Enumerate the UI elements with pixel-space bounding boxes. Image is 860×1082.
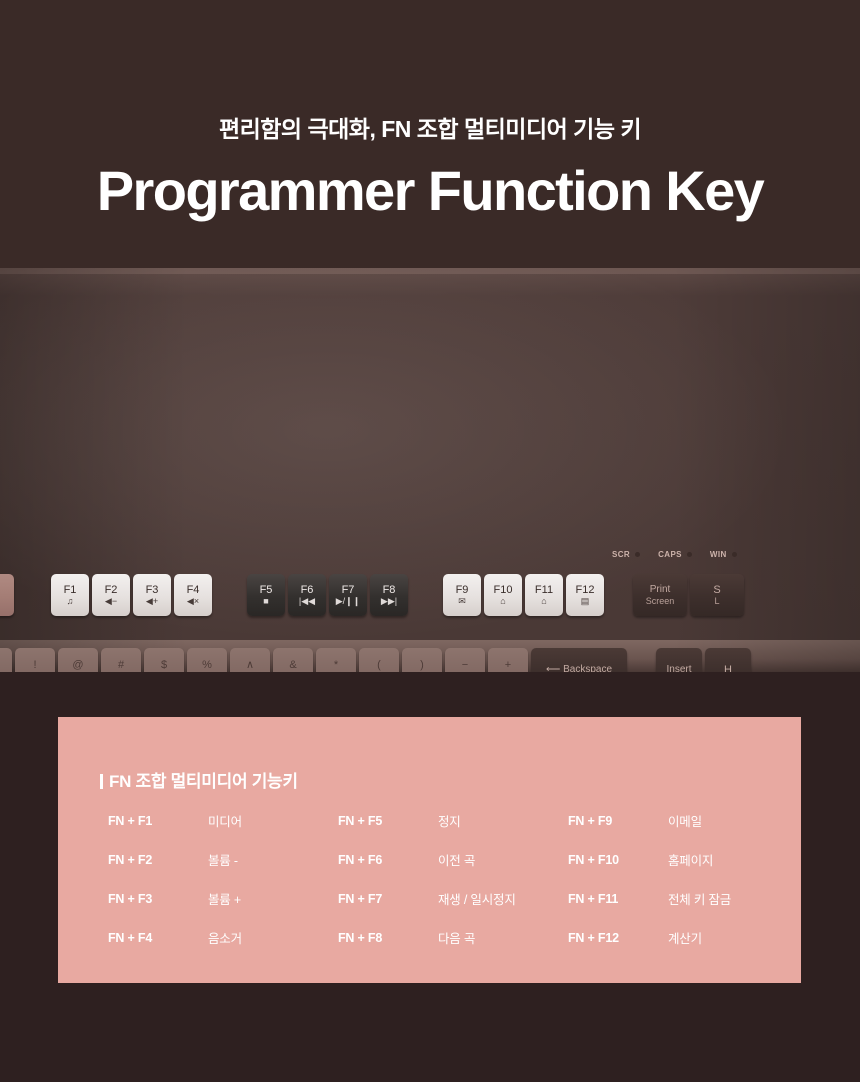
key-primary-legend: F9 (456, 585, 469, 597)
key-f1[interactable]: F1♫ (51, 574, 89, 616)
fn-key-description: 정지 (438, 811, 568, 830)
key-primary-legend: Print (650, 585, 671, 596)
fn-key-description: 이전 곡 (438, 850, 568, 869)
key-esc[interactable]: Esc (0, 574, 14, 616)
key-primary-legend: ( (377, 660, 381, 672)
key-primary-legend: F8 (383, 585, 396, 597)
fn-key-description: 볼륨 + (208, 889, 338, 908)
fn-key-combo: FN + F4 (108, 931, 208, 945)
indicator-label: WIN (710, 550, 727, 559)
fn-key-description: 다음 곡 (438, 928, 568, 947)
key-minus[interactable]: −- (445, 648, 485, 672)
fn-key-description: 이메일 (668, 811, 768, 830)
key-primary-legend: F10 (494, 585, 513, 597)
fn-key-description: 계산기 (668, 928, 768, 947)
header-subtitle: 편리함의 극대화, FN 조합 멀티미디어 기능 키 (0, 110, 860, 144)
fn-key-description: 볼륨 - (208, 850, 338, 869)
fn-key-combo: FN + F11 (568, 892, 668, 906)
indicator-label: CAPS (658, 550, 682, 559)
fn-key-description: 미디어 (208, 811, 338, 830)
key-primary-legend: F5 (260, 585, 273, 597)
function-key-row: EscF1♫F2◀−F3◀+F4◀×F5■F6|◀◀F7▶/❙❙F8▶▶|F9✉… (0, 574, 747, 616)
key-primary-legend: ) (420, 660, 424, 672)
key-primary-legend: & (289, 660, 296, 672)
key-print-screen[interactable]: PrintScreen (633, 574, 687, 616)
key-digit0[interactable]: )0 (402, 648, 442, 672)
key-primary-legend: + (505, 660, 511, 672)
key-digit2[interactable]: @2 (58, 648, 98, 672)
indicator-dot-icon (687, 552, 692, 557)
fn-key-combo: FN + F12 (568, 931, 668, 945)
key-secondary-legend: ⌂ (541, 597, 546, 606)
key-f5[interactable]: F5■ (247, 574, 285, 616)
fn-shortcut-panel: FN 조합 멀티미디어 기능키 FN + F1미디어FN + F5정지FN + … (58, 717, 801, 983)
key-digit4[interactable]: $4 (144, 648, 184, 672)
key-primary-legend: ! (33, 660, 36, 672)
key-secondary-legend: ♫ (67, 597, 74, 606)
key-f3[interactable]: F3◀+ (133, 574, 171, 616)
key-primary-legend: F3 (146, 585, 159, 597)
key-digit7[interactable]: &7 (273, 648, 313, 672)
key-f6[interactable]: F6|◀◀ (288, 574, 326, 616)
key-secondary-legend: ⌂ (500, 597, 505, 606)
key-secondary-legend: ▶▶| (381, 597, 397, 606)
key-primary-legend: F2 (105, 585, 118, 597)
key-primary-legend: F4 (187, 585, 200, 597)
key-f8[interactable]: F8▶▶| (370, 574, 408, 616)
indicator-win: WIN (710, 550, 737, 559)
key-primary-legend: * (334, 660, 338, 672)
key-secondary-legend: ◀− (105, 597, 117, 606)
fn-key-combo: FN + F6 (338, 853, 438, 867)
key-primary-legend: ⟵ Backspace (546, 665, 612, 672)
fn-key-description: 전체 키 잠금 (668, 889, 768, 908)
key-primary-legend: − (462, 660, 468, 672)
indicator-caps: CAPS (658, 550, 692, 559)
fn-key-description: 홈페이지 (668, 850, 768, 869)
key-secondary-legend: ▶/❙❙ (336, 597, 361, 606)
header-section: 편리함의 극대화, FN 조합 멀티미디어 기능 키 Programmer Fu… (0, 0, 860, 268)
indicator-dot-icon (635, 552, 640, 557)
key-primary-legend: # (118, 660, 124, 672)
indicator-scr: SCR (612, 550, 640, 559)
fn-key-description: 음소거 (208, 928, 338, 947)
fn-key-description: 재생 / 일시정지 (438, 889, 568, 908)
key-insert[interactable]: Insert (656, 648, 702, 672)
key-f11[interactable]: F11⌂ (525, 574, 563, 616)
heading-accent-bar (100, 774, 103, 789)
key-primary-legend: F7 (342, 585, 355, 597)
key-secondary-legend: ◀× (187, 597, 199, 606)
key-secondary-legend: ◀+ (146, 597, 158, 606)
key-digit8[interactable]: *8 (316, 648, 356, 672)
keyboard-product-image: SCRCAPSWIN EscF1♫F2◀−F3◀+F4◀×F5■F6|◀◀F7▶… (0, 268, 860, 672)
key-digit3[interactable]: #3 (101, 648, 141, 672)
key-primary-legend: F11 (535, 585, 553, 597)
key-primary-legend: $ (161, 660, 167, 672)
key-f10[interactable]: F10⌂ (484, 574, 522, 616)
key-primary-legend: % (202, 660, 212, 672)
key-secondary-legend: L (714, 597, 719, 606)
key-digit5[interactable]: %5 (187, 648, 227, 672)
fn-key-combo: FN + F1 (108, 814, 208, 828)
fn-key-combo: FN + F5 (338, 814, 438, 828)
key-home[interactable]: H (705, 648, 751, 672)
key-f9[interactable]: F9✉ (443, 574, 481, 616)
key-f7[interactable]: F7▶/❙❙ (329, 574, 367, 616)
fn-key-combo: FN + F2 (108, 853, 208, 867)
key-f2[interactable]: F2◀− (92, 574, 130, 616)
key-f12[interactable]: F12▤ (566, 574, 604, 616)
fn-shortcut-grid: FN + F1미디어FN + F5정지FN + F9이메일FN + F2볼륨 -… (108, 811, 768, 947)
key-secondary-legend: ✉ (458, 597, 466, 606)
key-secondary-legend: ▤ (581, 597, 590, 606)
fn-key-combo: FN + F7 (338, 892, 438, 906)
fn-key-combo: FN + F9 (568, 814, 668, 828)
key-scroll-lock[interactable]: SL (690, 574, 744, 616)
panel-heading-text: FN 조합 멀티미디어 기능키 (109, 772, 298, 791)
key-primary-legend: H (724, 665, 732, 672)
key-digit1[interactable]: !1 (15, 648, 55, 672)
key-primary-legend: Insert (666, 665, 691, 672)
indicator-led-group: SCRCAPSWIN (612, 550, 737, 559)
key-f4[interactable]: F4◀× (174, 574, 212, 616)
key-secondary-legend: ■ (263, 597, 268, 606)
indicator-dot-icon (732, 552, 737, 557)
key-backspace[interactable]: ⟵ Backspace (531, 648, 627, 672)
key-primary-legend: ∧ (246, 660, 254, 672)
key-digit9[interactable]: (9 (359, 648, 399, 672)
fn-key-combo: FN + F10 (568, 853, 668, 867)
key-grave[interactable]: ~` (0, 648, 12, 672)
number-key-row: ~`!1@2#3$4%5∧6&7*8(9)0−-+=⟵ BackspaceIns… (0, 648, 754, 672)
key-primary-legend: F1 (64, 585, 77, 597)
key-primary-legend: F12 (576, 585, 595, 597)
key-secondary-legend: |◀◀ (299, 597, 315, 606)
key-equal[interactable]: += (488, 648, 528, 672)
key-primary-legend: F6 (301, 585, 314, 597)
key-primary-legend: S (713, 585, 720, 597)
product-detail-page: 편리함의 극대화, FN 조합 멀티미디어 기능 키 Programmer Fu… (0, 0, 860, 1082)
indicator-label: SCR (612, 550, 630, 559)
key-primary-legend: @ (72, 660, 83, 672)
key-digit6[interactable]: ∧6 (230, 648, 270, 672)
fn-key-combo: FN + F8 (338, 931, 438, 945)
panel-heading: FN 조합 멀티미디어 기능키 (100, 767, 298, 792)
key-secondary-legend: Screen (646, 597, 675, 606)
fn-key-combo: FN + F3 (108, 892, 208, 906)
page-title: Programmer Function Key (0, 158, 860, 223)
